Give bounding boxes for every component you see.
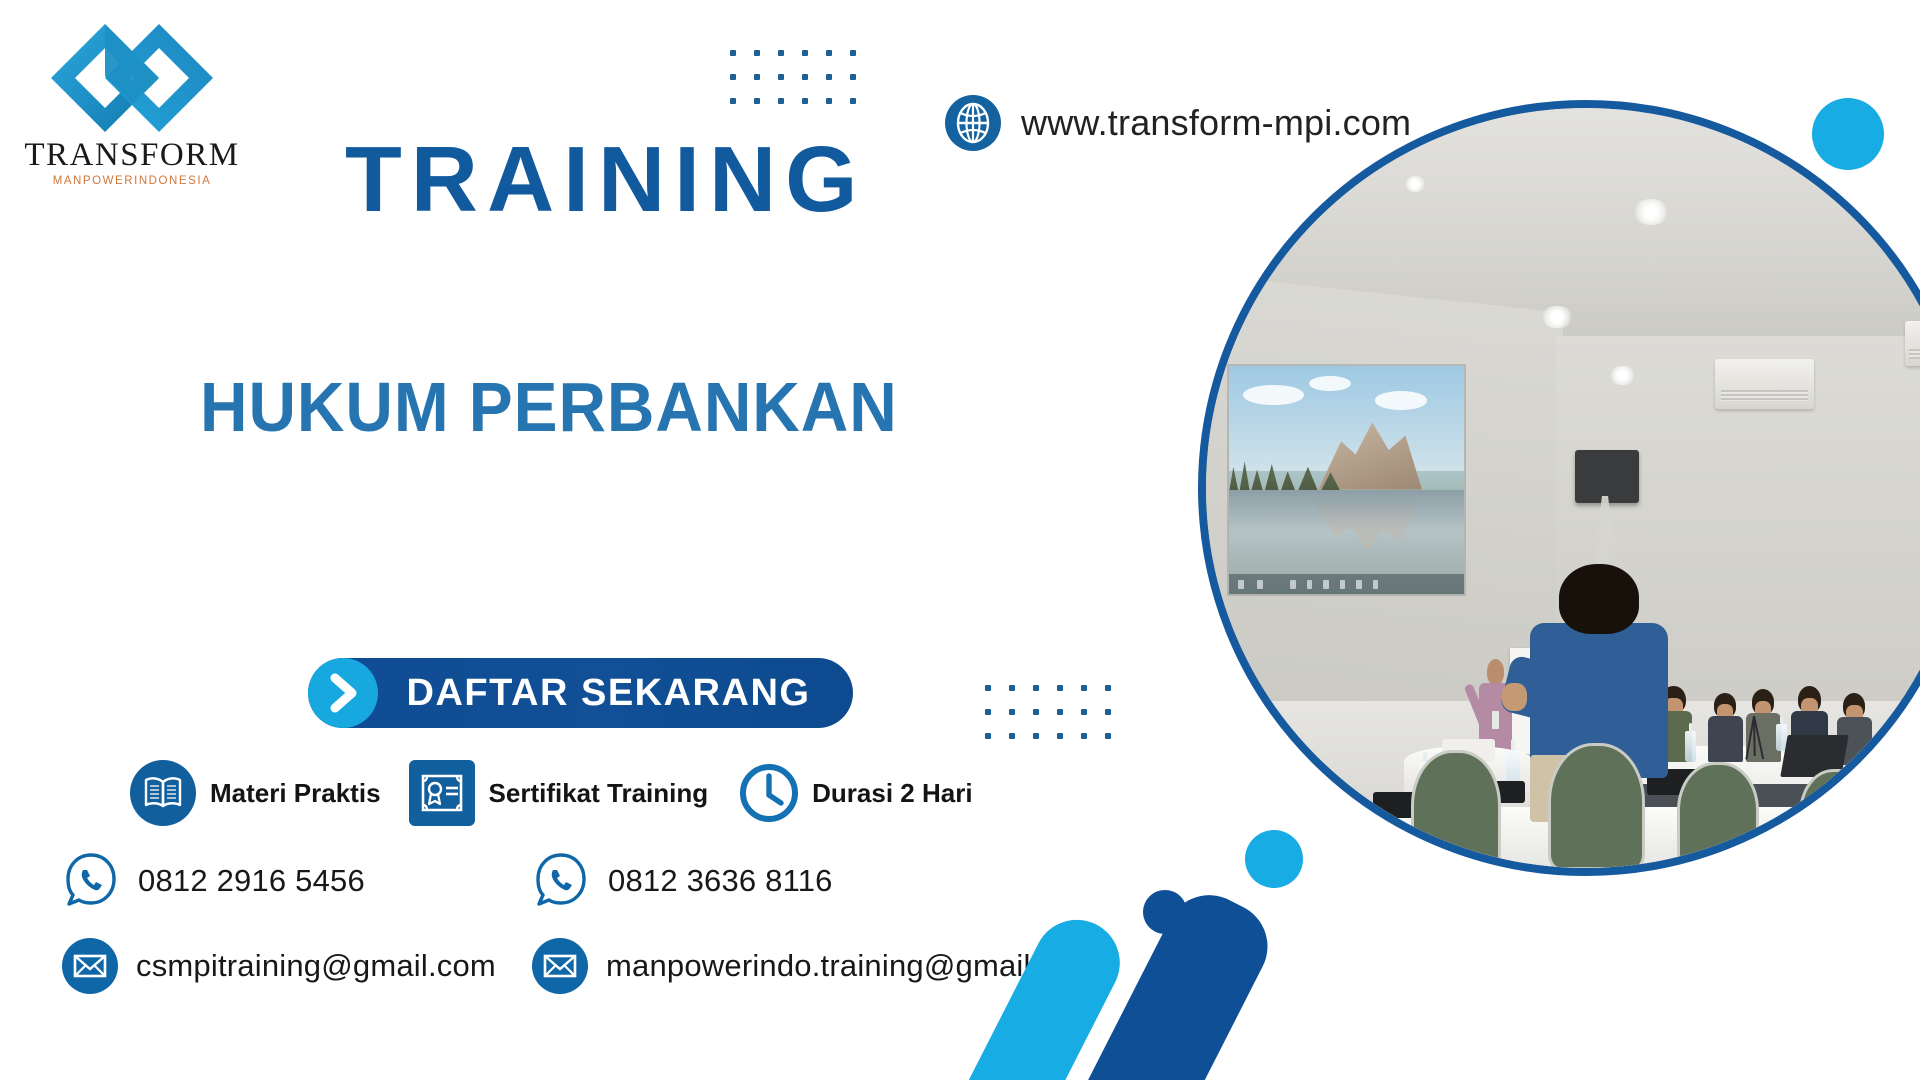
cyan-circle-small xyxy=(1245,830,1303,888)
clock-icon xyxy=(736,760,802,826)
logo-tagline: MANPOWERINDONESIA xyxy=(22,175,242,187)
email-address[interactable]: csmpitraining@gmail.com xyxy=(136,948,496,984)
cyan-circle-top-right xyxy=(1812,98,1884,170)
feature-item-materi: Materi Praktis xyxy=(130,760,381,826)
dot-grid-top xyxy=(730,50,856,104)
phone-item-2[interactable]: 0812 3636 8116 xyxy=(532,852,833,910)
feature-list: Materi Praktis Sertifikat Training xyxy=(130,760,973,826)
phone-row: 0812 2916 5456 0812 3636 8116 xyxy=(62,852,1172,910)
dot-grid-middle xyxy=(985,685,1111,739)
contact-block: 0812 2916 5456 0812 3636 8116 csmpitrain… xyxy=(62,852,1172,994)
whatsapp-icon xyxy=(62,852,120,910)
poster-canvas: TRANSFORM MANPOWERINDONESIA www.transfor… xyxy=(0,0,1920,1080)
phone-number[interactable]: 0812 2916 5456 xyxy=(138,863,365,899)
feature-item-durasi: Durasi 2 Hari xyxy=(736,760,972,826)
email-row: csmpitraining@gmail.com manpowerindo.tra… xyxy=(62,938,1172,994)
chevron-right-icon xyxy=(308,658,378,728)
certificate-icon xyxy=(409,760,475,826)
globe-icon xyxy=(945,95,1001,151)
email-item-2[interactable]: manpowerindo.training@gmail.com xyxy=(532,938,1099,994)
phone-item-1[interactable]: 0812 2916 5456 xyxy=(62,852,532,910)
feature-label: Materi Praktis xyxy=(210,778,381,809)
blue-circle-small xyxy=(1143,890,1187,934)
projection-screen xyxy=(1229,366,1465,594)
envelope-icon xyxy=(62,938,118,994)
feature-label: Sertifikat Training xyxy=(489,778,709,809)
phone-number[interactable]: 0812 3636 8116 xyxy=(608,863,833,899)
feature-label: Durasi 2 Hari xyxy=(812,778,972,809)
logo-wordmark: TRANSFORM xyxy=(22,139,242,172)
email-item-1[interactable]: csmpitraining@gmail.com xyxy=(62,938,532,994)
interlocking-diamonds-logo-icon xyxy=(47,18,217,143)
envelope-icon xyxy=(532,938,588,994)
register-button[interactable]: DAFTAR SEKARANG xyxy=(308,658,853,728)
register-button-label: DAFTAR SEKARANG xyxy=(378,672,853,715)
brand-logo: TRANSFORM MANPOWERINDONESIA xyxy=(22,18,242,187)
training-room-photo xyxy=(1198,100,1920,876)
page-title-topic: HUKUM PERBANKAN xyxy=(200,372,898,442)
whatsapp-icon xyxy=(532,852,590,910)
page-title-kicker: TRAINING xyxy=(345,133,866,226)
photo-content xyxy=(1206,108,1920,868)
open-book-icon xyxy=(130,760,196,826)
feature-item-sertifikat: Sertifikat Training xyxy=(409,760,709,826)
participant xyxy=(1708,693,1743,761)
